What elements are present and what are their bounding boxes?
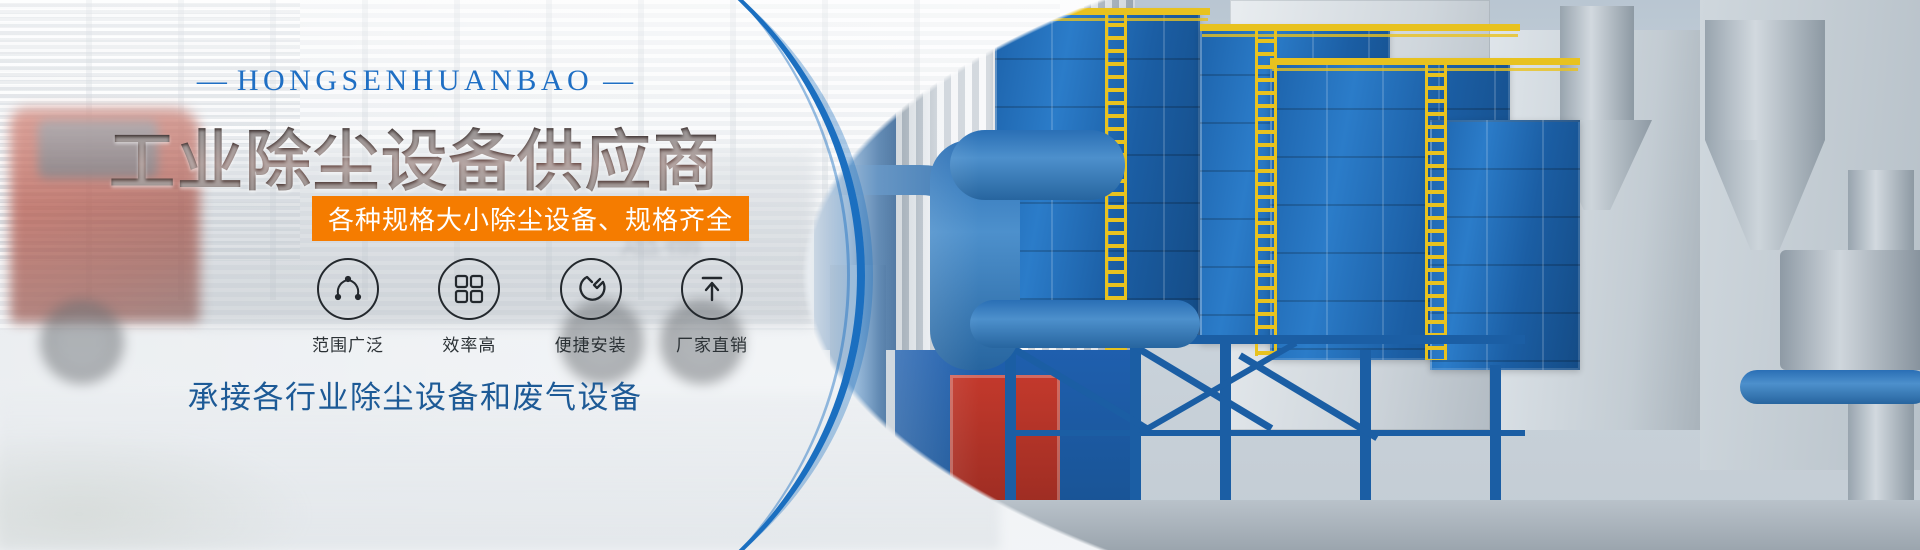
hero-banner: 运输 [0,0,1920,550]
eyebrow-dash-right: — [593,64,643,97]
grid-four-squares-icon [453,273,485,305]
hero-subtitle: 承接各行业除尘设备和废气设备 [0,372,830,417]
feature-label: 范围广泛 [300,331,396,356]
eyebrow-text: HONGSENHUANBAO [237,64,593,97]
feature-item-install[interactable]: 便捷安装 [543,258,639,356]
eyebrow-dash-left: — [187,64,237,97]
ribbon-text: 各种规格大小除尘设备、规格齐全 [328,200,733,237]
hero-content: —HONGSENHUANBAO— 工业除尘设备供应商 各种规格大小除尘设备、规格… [0,0,830,550]
feature-label: 厂家直销 [664,331,760,356]
ribbon-tagline: 各种规格大小除尘设备、规格齐全 [312,196,749,241]
feature-icon-circle [317,258,379,320]
feature-icon-circle [438,258,500,320]
feature-item-factory-direct[interactable]: 厂家直销 [664,258,760,356]
feature-icon-circle [681,258,743,320]
feature-item-scope[interactable]: 范围广泛 [300,258,396,356]
feature-list: 范围广泛 效率高 [300,258,760,356]
feature-label: 效率高 [421,331,517,356]
feature-icon-circle [560,258,622,320]
feature-item-efficiency[interactable]: 效率高 [421,258,517,356]
wrench-circle-icon [574,272,608,306]
brand-eyebrow: —HONGSENHUANBAO— [0,64,830,98]
scope-nodes-icon [331,272,365,306]
photo-edge-fade [800,0,1920,550]
arrow-up-bar-icon [696,273,728,305]
equipment-photo [800,0,1920,550]
page-title: 工业除尘设备供应商 [0,108,830,204]
feature-label: 便捷安装 [543,331,639,356]
